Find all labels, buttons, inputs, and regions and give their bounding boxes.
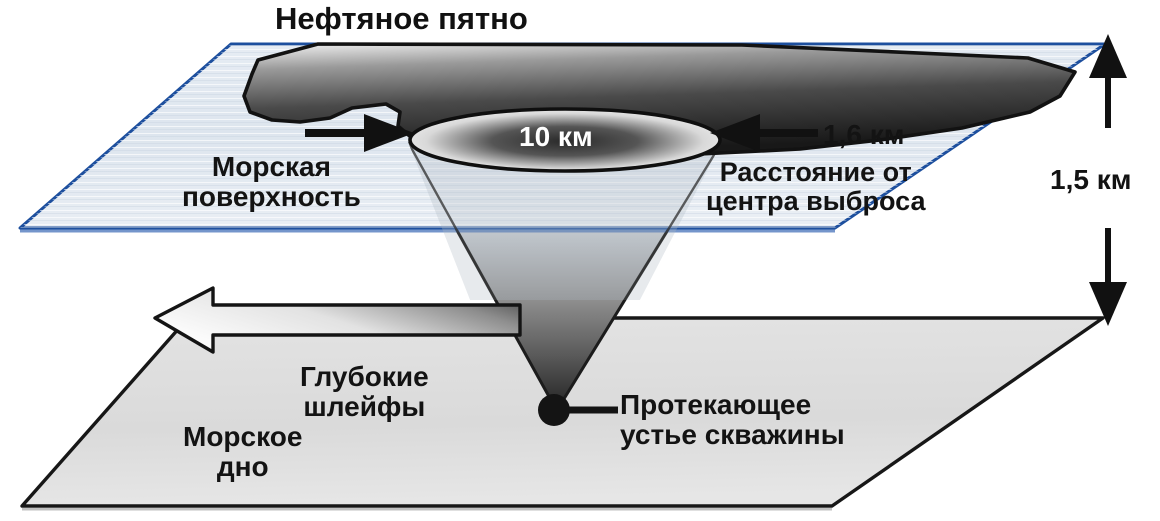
label-leaking-wellhead: Протекающее устье скважины — [620, 390, 845, 450]
diagram-canvas — [0, 0, 1160, 521]
label-distance-from-blowout: Расстояние от центра выброса — [706, 158, 925, 216]
label-seafloor: Морское дно — [183, 422, 302, 482]
measurement-depth: 1,5 км — [1050, 165, 1131, 195]
oil-spill-diagram: Нефтяное пятно Морская поверхность 10 км… — [0, 0, 1160, 521]
title-oil-slick: Нефтяное пятно — [275, 2, 528, 35]
label-sea-surface: Морская поверхность — [182, 152, 361, 212]
measurement-distance: 1,6 км — [823, 120, 904, 150]
measurement-slick-width: 10 км — [519, 122, 593, 152]
label-deep-plumes: Глубокие шлейфы — [300, 362, 429, 422]
